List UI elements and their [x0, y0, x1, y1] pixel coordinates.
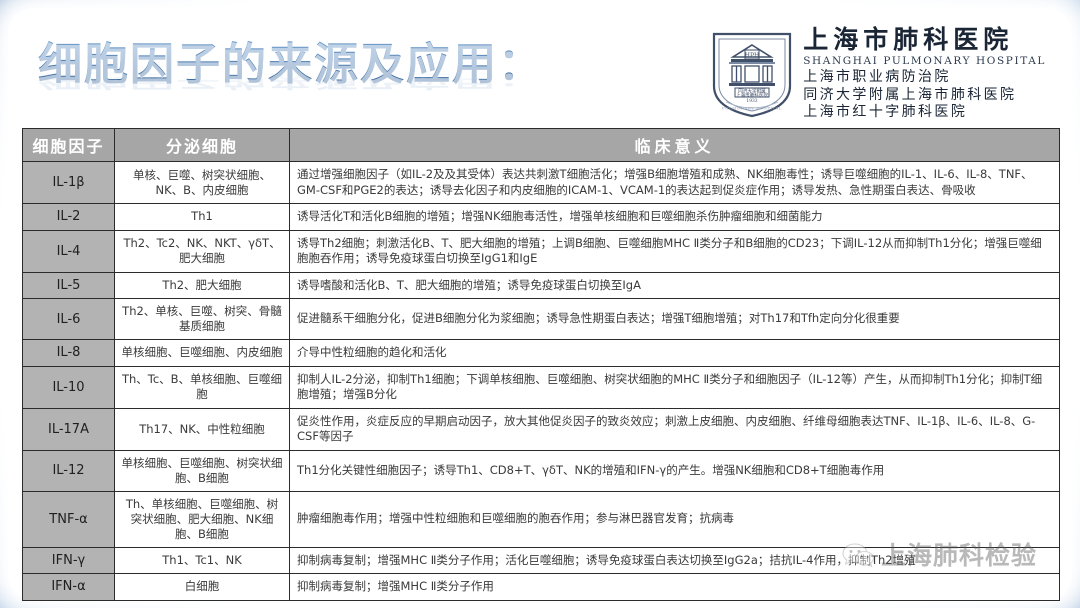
- cell-cytokine-name: IL-12: [23, 450, 115, 491]
- table-row: IL-8单核细胞、巨噬细胞、内皮细胞介导中性粒细胞的趋化和活化: [23, 340, 1060, 367]
- table-row: IFN-γTh1、Tc1、NK抑制病毒复制；增强MHC Ⅱ类分子作用；活化巨噬细…: [23, 547, 1060, 574]
- cell-cytokine-name: IL-8: [23, 340, 115, 367]
- cell-clinical-significance: 抑制病毒复制；增强MHC Ⅱ类分子作用: [290, 574, 1060, 601]
- cell-clinical-significance: 促炎性作用，炎症反应的早期启动因子，放大其他促炎因子的致炎效应；刺激上皮细胞、内…: [290, 408, 1060, 450]
- table-row: IL-17ATh17、NK、中性粒细胞促炎性作用，炎症反应的早期启动因子，放大其…: [23, 408, 1060, 450]
- cell-cytokine-name: TNF-α: [23, 491, 115, 547]
- cell-secreting-cells: Th2、Tc2、NK、NKT、γδT、肥大细胞: [115, 230, 290, 272]
- hospital-name-cn: 上海市肺科医院: [803, 26, 1013, 54]
- table-row: IL-12单核细胞、巨噬细胞、树突状细胞、B细胞Th1分化关键性细胞因子；诱导T…: [23, 450, 1060, 491]
- table-row: TNF-αTh、单核细胞、巨噬细胞、树突状细胞、肥大细胞、NK细胞、B细胞肿瘤细…: [23, 491, 1060, 547]
- cell-secreting-cells: 单核细胞、巨噬细胞、内皮细胞: [115, 340, 290, 367]
- cell-secreting-cells: Th、单核细胞、巨噬细胞、树突状细胞、肥大细胞、NK细胞、B细胞: [115, 491, 290, 547]
- cell-clinical-significance: 诱导Th2细胞；刺激活化B、T、肥大细胞的增殖；上调B细胞、巨噬细胞MHC Ⅱ类…: [290, 230, 1060, 272]
- page-title: 细胞因子的来源及应用：: [38, 36, 658, 94]
- cell-secreting-cells: Th17、NK、中性粒细胞: [115, 408, 290, 450]
- cell-cytokine-name: IFN-γ: [23, 547, 115, 574]
- hospital-subname-1: 上海市职业病防治院: [803, 69, 951, 87]
- cytokine-table-container: 细胞因子 分泌细胞 临床意义 IL-1β单核、巨噬、树突状细胞、NK、B、内皮细…: [22, 128, 1059, 601]
- cell-cytokine-name: IL-10: [23, 366, 115, 408]
- cell-cytokine-name: IL-5: [23, 272, 115, 299]
- cell-secreting-cells: 单核细胞、巨噬细胞、树突状细胞、B细胞: [115, 450, 290, 491]
- cell-clinical-significance: 诱导嗜酸和活化B、T、肥大细胞的增殖；诱导免疫球蛋白切换至IgA: [290, 272, 1060, 299]
- table-row: IL-5Th2、肥大细胞诱导嗜酸和活化B、T、肥大细胞的增殖；诱导免疫球蛋白切换…: [23, 272, 1060, 299]
- cell-secreting-cells: 白细胞: [115, 574, 290, 601]
- cell-clinical-significance: 介导中性粒细胞的趋化和活化: [290, 340, 1060, 367]
- column-header-cytokine: 细胞因子: [23, 129, 115, 162]
- cell-cytokine-name: IFN-α: [23, 574, 115, 601]
- cell-clinical-significance: Th1分化关键性细胞因子；诱导Th1、CD8+T、γδT、NK的增殖和IFN-γ…: [290, 450, 1060, 491]
- column-header-clinical-significance: 临床意义: [290, 129, 1060, 162]
- hospital-name-en: SHANGHAI PULMONARY HOSPITAL: [803, 54, 1046, 69]
- table-body: IL-1β单核、巨噬、树突状细胞、NK、B、内皮细胞通过增强细胞因子（如IL-2…: [23, 162, 1060, 601]
- page-title-block: 细胞因子的来源及应用： 细胞因子的来源及应用：: [38, 36, 658, 122]
- cell-cytokine-name: IL-4: [23, 230, 115, 272]
- table-row: IL-2Th1诱导活化T和活化B细胞的增殖；增强NK细胞毒活性，增强单核细胞和巨…: [23, 204, 1060, 231]
- table-header-row: 细胞因子 分泌细胞 临床意义: [23, 129, 1060, 162]
- hospital-crest-icon: HPH 同济大学附属 上海市肺科医院 1933 PULMONARY HOSPIT…: [709, 28, 795, 120]
- cell-secreting-cells: Th1、Tc1、NK: [115, 547, 290, 574]
- cell-secreting-cells: 单核、巨噬、树突状细胞、NK、B、内皮细胞: [115, 162, 290, 204]
- cell-cytokine-name: IL-6: [23, 299, 115, 340]
- cell-clinical-significance: 抑制病毒复制；增强MHC Ⅱ类分子作用；活化巨噬细胞；诱导免疫球蛋白表达切换至I…: [290, 547, 1060, 574]
- hospital-logo-text: 上海市肺科医院 SHANGHAI PULMONARY HOSPITAL 上海市职…: [803, 26, 1046, 122]
- svg-text:上海市肺科医院: 上海市肺科医院: [736, 91, 769, 98]
- svg-text:PULMONARY HOSPITAL: PULMONARY HOSPITAL: [722, 105, 782, 110]
- table-row: IFN-α白细胞抑制病毒复制；增强MHC Ⅱ类分子作用: [23, 574, 1060, 601]
- svg-text:1933: 1933: [747, 99, 758, 104]
- cell-clinical-significance: 肿瘤细胞毒作用；增强中性粒细胞和巨噬细胞的胞吞作用；参与淋巴器官发育；抗病毒: [290, 491, 1060, 547]
- cell-clinical-significance: 诱导活化T和活化B细胞的增殖；增强NK细胞毒活性，增强单核细胞和巨噬细胞杀伤肿瘤…: [290, 204, 1060, 231]
- slide-content: 细胞因子的来源及应用： 细胞因子的来源及应用： HPH: [0, 0, 1080, 608]
- cell-cytokine-name: IL-1β: [23, 162, 115, 204]
- cell-secreting-cells: Th2、单核、巨噬、树突、骨髓基质细胞: [115, 299, 290, 340]
- hospital-logo: HPH 同济大学附属 上海市肺科医院 1933 PULMONARY HOSPIT…: [709, 26, 1046, 122]
- cell-clinical-significance: 通过增强细胞因子（如IL-2及及其受体）表达共刺激T细胞活化；增强B细胞增殖和成…: [290, 162, 1060, 204]
- cell-secreting-cells: Th、Tc、B、单核细胞、巨噬细胞: [115, 366, 290, 408]
- cell-clinical-significance: 抑制人IL-2分泌，抑制Th1细胞；下调单核细胞、巨噬细胞、树突状细胞的MHC …: [290, 366, 1060, 408]
- cell-cytokine-name: IL-2: [23, 204, 115, 231]
- cell-clinical-significance: 促进髓系干细胞分化，促进B细胞分化为浆细胞；诱导急性期蛋白表达；增强T细胞增殖；…: [290, 299, 1060, 340]
- slide-canvas: 细胞因子的来源及应用： 细胞因子的来源及应用： HPH: [0, 0, 1080, 608]
- column-header-secreting-cells: 分泌细胞: [115, 129, 290, 162]
- hospital-subname-3: 上海市红十字肺科医院: [803, 104, 967, 122]
- svg-text:HPH: HPH: [745, 52, 760, 59]
- table-row: IL-4Th2、Tc2、NK、NKT、γδT、肥大细胞诱导Th2细胞；刺激活化B…: [23, 230, 1060, 272]
- table-row: IL-1β单核、巨噬、树突状细胞、NK、B、内皮细胞通过增强细胞因子（如IL-2…: [23, 162, 1060, 204]
- cell-secreting-cells: Th2、肥大细胞: [115, 272, 290, 299]
- cell-cytokine-name: IL-17A: [23, 408, 115, 450]
- hospital-subname-2: 同济大学附属上海市肺科医院: [803, 87, 1016, 105]
- table-row: IL-6Th2、单核、巨噬、树突、骨髓基质细胞促进髓系干细胞分化，促进B细胞分化…: [23, 299, 1060, 340]
- table-row: IL-10Th、Tc、B、单核细胞、巨噬细胞抑制人IL-2分泌，抑制Th1细胞；…: [23, 366, 1060, 408]
- cytokine-table: 细胞因子 分泌细胞 临床意义 IL-1β单核、巨噬、树突状细胞、NK、B、内皮细…: [22, 128, 1060, 601]
- cell-secreting-cells: Th1: [115, 204, 290, 231]
